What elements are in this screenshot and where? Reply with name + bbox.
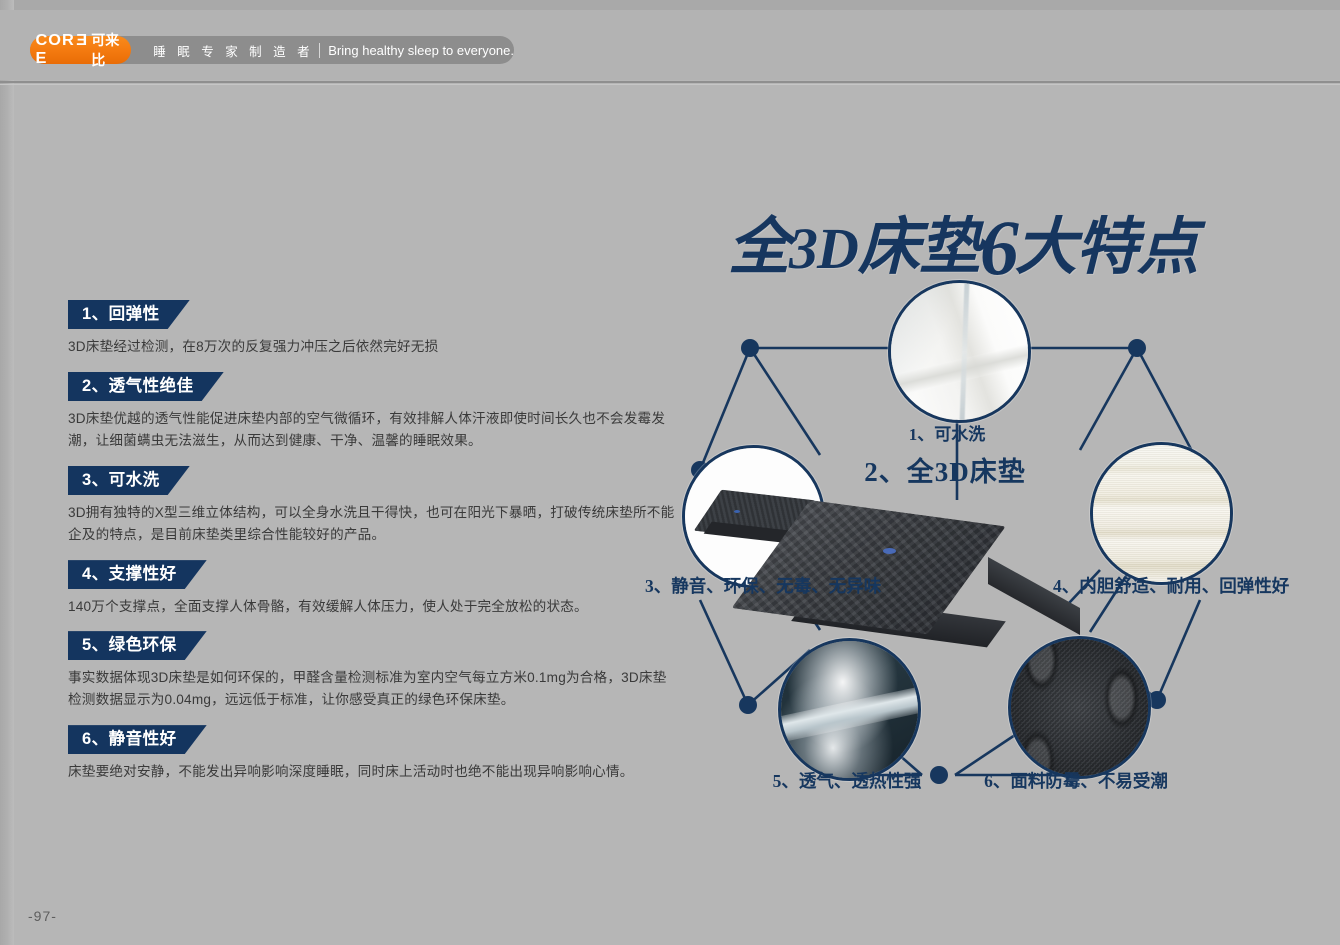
diagram-label-5: 5、透气、透热性强 xyxy=(773,768,922,793)
feature-body-5: 事实数据体现3D床垫是如何环保的，甲醛含量检测标准为室内空气每立方米0.1mg为… xyxy=(68,667,678,711)
feature-badge-6: 6、静音性好 xyxy=(68,725,207,754)
diagram-label-1: 1、可水洗 xyxy=(909,420,986,445)
feature-body-1: 3D床垫经过检测，在8万次的反复强力冲压之后依然完好无损 xyxy=(68,336,678,358)
feature-item: 6、静音性好 床垫要绝对安静，不能发出异响影响深度睡眠，同时床上活动时也绝不能出… xyxy=(68,725,678,783)
white-fabric-water-wash-photo xyxy=(891,283,1028,420)
feature-item: 3、可水洗 3D拥有独特的X型三维立体结构，可以全身水洗且干得快，也可在阳光下暴… xyxy=(68,466,678,546)
page-number: -97- xyxy=(28,908,57,924)
feature-badge-2: 2、透气性绝佳 xyxy=(68,372,224,401)
feature-body-6: 床垫要绝对安静，不能发出异响影响深度睡眠，同时床上活动时也绝不能出现异响影响心情… xyxy=(68,761,678,783)
feature-badge-5: 5、绿色环保 xyxy=(68,631,207,660)
hexagon-feature-diagram: 1、可水洗 2、全3D床垫 3、静音、环保、无毒、无异味 4、内胆舒适、耐用、回… xyxy=(660,270,1300,830)
feature-item: 2、透气性绝佳 3D床垫优越的透气性能促进床垫内部的空气微循环，有效排解人体汗液… xyxy=(68,372,678,452)
header-divider-highlight xyxy=(0,84,1340,85)
mattress-brand-tag xyxy=(883,548,896,554)
diagram-node-6-image xyxy=(1008,636,1151,779)
cream-layered-filling-photo xyxy=(1093,445,1230,582)
diagram-node-4-image xyxy=(1090,442,1233,585)
black-3d-mattress-product-photo xyxy=(810,500,1100,625)
feature-item: 5、绿色环保 事实数据体现3D床垫是如何环保的，甲醛含量检测标准为室内空气每立方… xyxy=(68,631,678,711)
brand-logo-badge: COREE 可来比 xyxy=(30,36,131,64)
page-top-edge xyxy=(0,0,1340,10)
feature-body-3: 3D拥有独特的X型三维立体结构，可以全身水洗且干得快，也可在阳光下暴晒，打破传统… xyxy=(68,502,678,546)
brand-logo-latin: COREE xyxy=(35,32,86,68)
diagram-label-6: 6、面料防霉、不易受潮 xyxy=(984,768,1168,793)
feature-badge-1: 1、回弹性 xyxy=(68,300,190,329)
header-divider xyxy=(0,81,1340,83)
diagram-node-5-image xyxy=(778,638,921,781)
feature-badge-4: 4、支撑性好 xyxy=(68,560,207,589)
diagram-node-1-image xyxy=(888,280,1031,423)
feature-item: 1、回弹性 3D床垫经过检测，在8万次的反复强力冲压之后依然完好无损 xyxy=(68,300,678,358)
diagram-center-label: 2、全3D床垫 xyxy=(864,450,1026,489)
dark-quilted-mesh-fabric-photo xyxy=(1011,639,1148,776)
page-left-edge xyxy=(0,0,14,945)
feature-body-4: 140万个支撑点，全面支撑人体骨骼，有效缓解人体压力，使人处于完全放松的状态。 xyxy=(68,596,678,618)
fiber-breathability-photo xyxy=(781,641,918,778)
feature-body-2: 3D床垫优越的透气性能促进床垫内部的空气微循环，有效排解人体汗液即使时间长久也不… xyxy=(68,408,678,452)
feature-list: 1、回弹性 3D床垫经过检测，在8万次的反复强力冲压之后依然完好无损 2、透气性… xyxy=(68,300,678,797)
diagram-label-3: 3、静音、环保、无毒、无异味 xyxy=(645,573,881,598)
brand-logo-chinese: 可来比 xyxy=(91,30,125,70)
tagline-divider xyxy=(319,43,320,58)
brand-tagline-english: Bring healthy sleep to everyone. xyxy=(328,43,514,58)
diagram-label-4: 4、内胆舒适、耐用、回弹性好 xyxy=(1053,573,1289,598)
feature-item: 4、支撑性好 140万个支撑点，全面支撑人体骨骼，有效缓解人体压力，使人处于完全… xyxy=(68,560,678,618)
brand-logo-pill: COREE 可来比 睡 眠 专 家 制 造 者 Bring healthy sl… xyxy=(30,36,514,64)
feature-badge-3: 3、可水洗 xyxy=(68,466,190,495)
brand-tagline-chinese: 睡 眠 专 家 制 造 者 xyxy=(153,41,313,60)
